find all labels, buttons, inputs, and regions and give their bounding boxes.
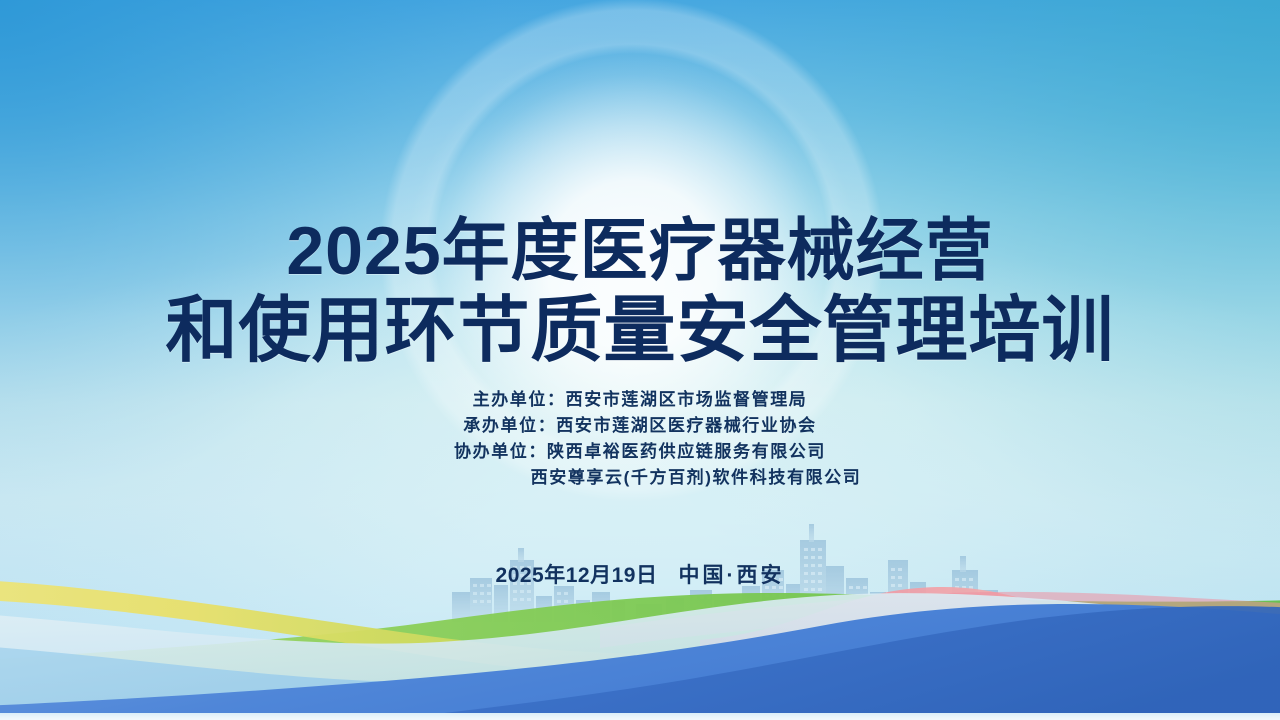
organizer-credits-block: 主办单位：西安市莲湖区市场监督管理局 承办单位：西安市莲湖区医疗器械行业协会 协… (0, 387, 1280, 491)
event-location: 中国·西安 (678, 564, 784, 587)
event-date-location: 2025年12月19日 中国·西安 (0, 559, 1280, 589)
event-date: 2025年12月19日 (496, 564, 658, 587)
poster-title-line-2: 和使用环节质量安全管理培训 (0, 295, 1280, 367)
poster-title-line-1: 2025年度医疗器械经营 (0, 217, 1280, 285)
date-place-spacer (664, 564, 672, 587)
bottom-edge-strip (0, 713, 1280, 720)
organizer-line-undertaker: 承办单位：西安市莲湖区医疗器械行业协会 (0, 413, 1280, 439)
organizer-line-coorganizer-2: 西安尊享云(千方百剂)软件科技有限公司 (0, 465, 1280, 491)
poster-title: 2025年度医疗器械经营 和使用环节质量安全管理培训 (0, 217, 1280, 367)
organizer-line-host: 主办单位：西安市莲湖区市场监督管理局 (0, 387, 1280, 413)
organizer-line-coorganizer-1: 协办单位：陕西卓裕医药供应链服务有限公司 (0, 439, 1280, 465)
poster-canvas: 2025年度医疗器械经营 和使用环节质量安全管理培训 主办单位：西安市莲湖区市场… (0, 0, 1280, 720)
